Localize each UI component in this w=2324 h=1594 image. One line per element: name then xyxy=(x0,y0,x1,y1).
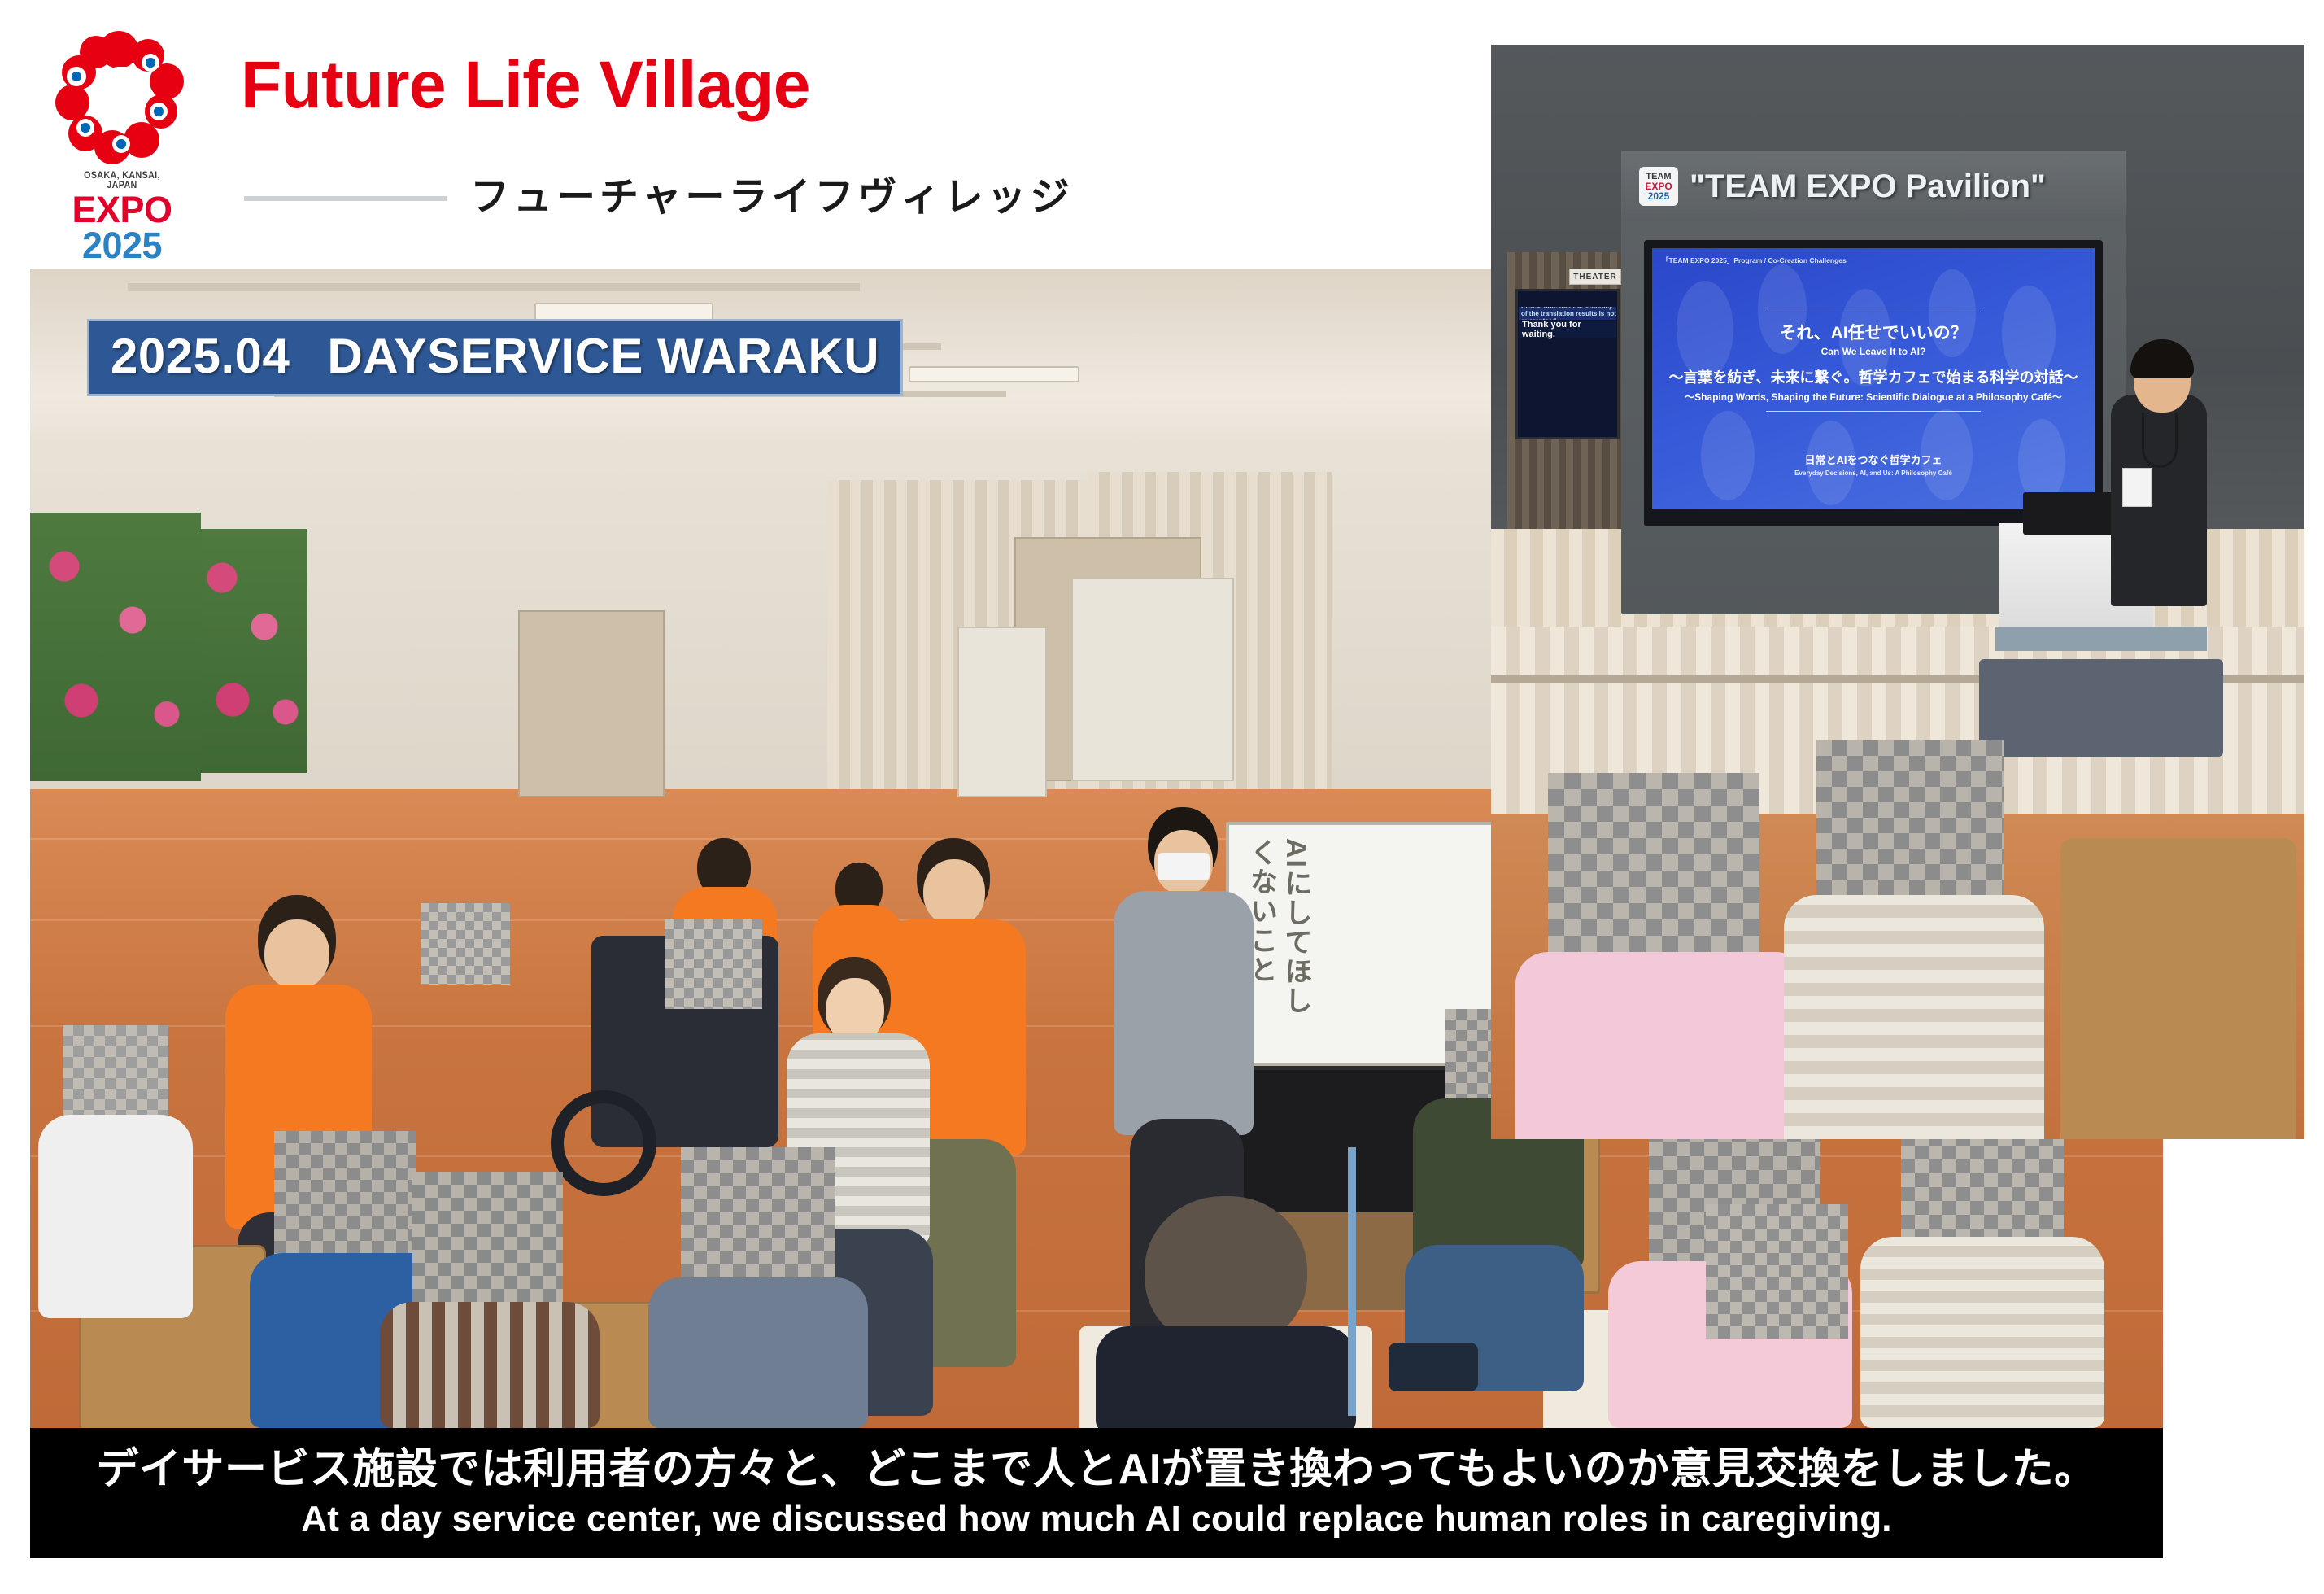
photo-banner-place: DAYSERVICE WARAKU xyxy=(327,329,879,383)
cabinet xyxy=(1071,578,1234,781)
badge-line-year: 2025 xyxy=(1648,191,1670,201)
team-expo-badge-icon: TEAM EXPO 2025 xyxy=(1639,167,1678,206)
blurred-face xyxy=(274,1131,416,1261)
cabinet xyxy=(957,627,1047,797)
caption-japanese: デイサービス施設では利用者の方々と、どこまで人とAIが置き換わってもよいのか意見… xyxy=(96,1447,2096,1492)
flower-decoration-wall xyxy=(201,529,307,773)
slide-subhead-jp: 〜言葉を紡ぎ、未来に繋ぐ。哲学カフェで始まる科学の対話〜 xyxy=(1652,366,2095,387)
slide-page: OSAKA, KANSAI, JAPAN EXPO 2025 Future Li… xyxy=(0,0,2324,1594)
blurred-face xyxy=(63,1025,168,1123)
myakumyaku-eye xyxy=(112,135,130,153)
inset-photo-pavilion: THEATER Please note that the accuracy of… xyxy=(1491,45,2304,627)
ceiling-equipment xyxy=(1979,659,2223,757)
slide-rule xyxy=(1766,312,1981,312)
visitor-person xyxy=(1784,895,2044,1139)
expo-2025-logo: OSAKA, KANSAI, JAPAN EXPO 2025 xyxy=(47,31,194,234)
expo-year: 2025 xyxy=(65,228,179,264)
blurred-face xyxy=(665,919,762,1009)
name-badge xyxy=(2122,468,2152,507)
page-subtitle: フューチャーライフヴィレッジ xyxy=(470,164,1074,221)
blurred-face xyxy=(421,903,510,985)
page-title: Future Life Village xyxy=(241,47,810,124)
blurred-face xyxy=(1548,773,1759,968)
photo-title-banner: 2025.04DAYSERVICE WARAKU xyxy=(87,319,903,396)
face-mask xyxy=(1158,853,1210,880)
inset-photo-secondary xyxy=(1491,570,2304,1139)
theater-sign: THEATER xyxy=(1569,269,1621,285)
shoe xyxy=(1389,1343,1478,1391)
badge-line-expo: EXPO xyxy=(1645,181,1672,191)
pavilion-sign-title: "TEAM EXPO Pavilion" xyxy=(1690,168,2046,205)
ceiling-light xyxy=(909,366,1079,382)
presentation-slide: 「TEAM EXPO 2025」Program / Co-Creation Ch… xyxy=(1652,248,2095,509)
slide-footer-jp: 日常とAIをつなぐ哲学カフェ xyxy=(1652,452,2095,467)
slide-headline-jp: それ、AI任せでいいの？ xyxy=(1652,320,2095,344)
slide-footer-en: Everyday Decisions, AI, and Us: A Philos… xyxy=(1652,469,2095,477)
slide-headline-en: Can We Leave It to AI? xyxy=(1652,346,2095,357)
photo-banner-date: 2025.04 xyxy=(111,329,290,383)
slide-kicker: 「TEAM EXPO 2025」Program / Co-Creation Ch… xyxy=(1662,255,1847,265)
expo-word: EXPO xyxy=(65,192,179,228)
wheelchair-wheel xyxy=(551,1090,656,1196)
myakumyaku-eye xyxy=(142,54,159,72)
badge-line-team: TEAM xyxy=(1646,173,1671,181)
side-monitor-message: Thank you for waiting. xyxy=(1519,321,1616,338)
myakumyaku-eye xyxy=(67,67,86,86)
storage-shelf xyxy=(518,610,665,797)
chair xyxy=(2060,838,2296,1139)
title-divider xyxy=(244,196,447,201)
visitor-person xyxy=(1515,952,1808,1139)
ceiling-light xyxy=(534,303,713,321)
myakumyaku-eye xyxy=(76,119,94,137)
caption-bar: デイサービス施設では利用者の方々と、どこまで人とAIが置き換わってもよいのか意見… xyxy=(30,1428,2163,1558)
blurred-face xyxy=(1706,1204,1848,1339)
pavilion-sign-header: TEAM EXPO 2025 "TEAM EXPO Pavilion" xyxy=(1621,151,2126,222)
lanyard xyxy=(2142,413,2178,468)
blurred-face xyxy=(1816,740,2004,915)
expo-wordmark: OSAKA, KANSAI, JAPAN EXPO 2025 xyxy=(65,171,179,264)
slide-subhead-en: 〜Shaping Words, Shaping the Future: Scie… xyxy=(1652,390,2095,404)
whiteboard-text: AIにしてほしくないこと xyxy=(1244,838,1313,1042)
side-monitor-notice: Please note that the accuracy of the tra… xyxy=(1519,307,1616,320)
slide-rule xyxy=(1766,411,1981,412)
flower-decoration-wall xyxy=(30,513,201,781)
walking-cane xyxy=(1348,1147,1356,1416)
blurred-face xyxy=(681,1147,835,1290)
blurred-face xyxy=(412,1172,563,1314)
myakumyaku-eye xyxy=(150,103,168,120)
caption-english: At a day service center, we discussed ho… xyxy=(301,1499,1891,1539)
myakumyaku-ring-icon xyxy=(54,31,184,165)
expo-region-line: OSAKA, KANSAI, JAPAN xyxy=(69,171,175,190)
